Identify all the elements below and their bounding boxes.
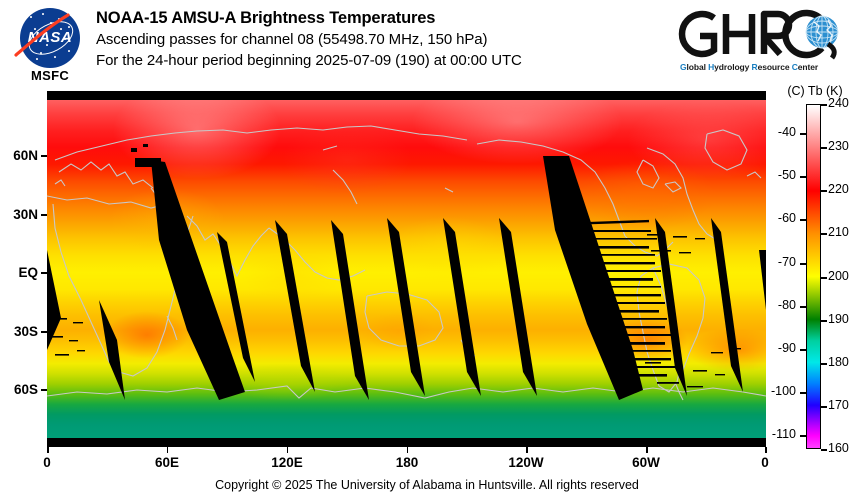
cb-tick-m110: [800, 435, 806, 437]
subtitle-channel: Ascending passes for channel 08 (55498.7…: [96, 29, 676, 50]
cb-tick-240: [821, 104, 827, 106]
cb-label-m100: -100: [771, 384, 796, 398]
cb-label-210: 210: [828, 225, 849, 239]
cb-label-m80: -80: [778, 298, 796, 312]
cb-tick-m100: [800, 392, 806, 394]
cb-tick-m50: [800, 176, 806, 178]
cb-label-m70: -70: [778, 255, 796, 269]
cb-label-m110: -110: [772, 427, 796, 441]
cb-label-m60: -60: [778, 211, 796, 225]
cb-tick-210: [821, 233, 827, 235]
brightness-temperature-field: [47, 100, 766, 438]
nasa-center-label: MSFC: [12, 68, 88, 83]
x-tick-120e: [287, 447, 289, 453]
x-label-120e: 120E: [247, 455, 327, 470]
cb-tick-180: [821, 363, 827, 365]
x-label-120w: 120W: [486, 455, 566, 470]
subtitle-period: For the 24-hour period beginning 2025-07…: [96, 50, 676, 71]
cb-tick-m60: [800, 219, 806, 221]
nasa-swoosh-icon: [14, 13, 70, 59]
ghrc-wordmark-icon: [676, 6, 848, 62]
swath-start-marker-icon: [405, 82, 465, 91]
y-label-60n: 60N: [0, 148, 38, 163]
cb-label-200: 200: [828, 269, 849, 283]
ghrc-logo: Global Hydrology Resource Center: [676, 6, 848, 82]
page-title: NOAA-15 AMSU-A Brightness Temperatures: [96, 8, 676, 29]
cb-label-240: 240: [828, 96, 849, 110]
x-tick-60e: [167, 447, 169, 453]
copyright-notice: Copyright © 2025 The University of Alaba…: [0, 478, 854, 492]
nasa-logo: NASA MSFC: [12, 6, 88, 84]
map-frame: [47, 91, 766, 447]
cb-label-m40: -40: [778, 125, 796, 139]
y-tick-60n: [41, 155, 47, 157]
cb-tick-m80: [800, 306, 806, 308]
x-label-180: 180: [367, 455, 447, 470]
y-label-60s: 60S: [0, 382, 38, 397]
y-tick-60s: [41, 389, 47, 391]
cb-label-m90: -90: [778, 341, 796, 355]
cb-tick-170: [821, 406, 827, 408]
cb-label-160: 160: [828, 441, 849, 455]
ghrc-tagline: Global Hydrology Resource Center: [680, 62, 848, 72]
colorbar-gradient: [806, 104, 821, 449]
cb-tick-m70: [800, 263, 806, 265]
y-label-eq: EQ: [0, 265, 38, 280]
x-tick-360: [765, 447, 767, 453]
cb-tick-200: [821, 277, 827, 279]
x-label-60e: 60E: [127, 455, 207, 470]
x-tick-60w: [646, 447, 648, 453]
cb-tick-160: [821, 449, 827, 451]
x-label-0: 0: [7, 455, 87, 470]
y-tick-30s: [41, 331, 47, 333]
cb-label-230: 230: [828, 139, 849, 153]
swath-gap-overlay: [47, 100, 766, 438]
x-tick-120w: [526, 447, 528, 453]
y-label-30s: 30S: [0, 324, 38, 339]
colorbar[interactable]: [806, 104, 821, 449]
cb-tick-190: [821, 320, 827, 322]
cb-tick-m90: [800, 349, 806, 351]
y-tick-eq: [41, 272, 47, 274]
cb-label-m50: -50: [778, 168, 796, 182]
x-tick-180: [407, 447, 409, 453]
cb-tick-m40: [800, 133, 806, 135]
x-tick-0: [47, 447, 49, 453]
cb-tick-230: [821, 147, 827, 149]
cb-label-170: 170: [828, 398, 849, 412]
x-label-60w: 60W: [606, 455, 686, 470]
cb-label-220: 220: [828, 182, 849, 196]
title-block: NOAA-15 AMSU-A Brightness Temperatures A…: [96, 8, 676, 71]
y-tick-30n: [41, 214, 47, 216]
cb-label-190: 190: [828, 312, 849, 326]
y-label-30n: 30N: [0, 207, 38, 222]
map-canvas[interactable]: [47, 100, 766, 438]
cb-tick-220: [821, 190, 827, 192]
x-label-360: 0: [725, 455, 805, 470]
cb-label-180: 180: [828, 355, 849, 369]
